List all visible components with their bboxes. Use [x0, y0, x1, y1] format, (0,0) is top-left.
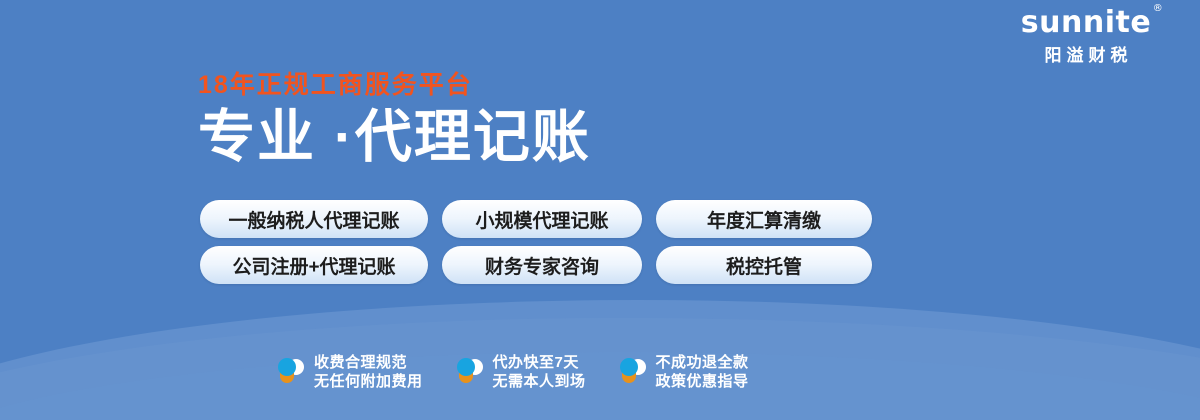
feature-line-1: 不成功退全款	[656, 353, 749, 372]
registered-trademark-icon: ®	[1153, 4, 1164, 14]
brand-logo[interactable]: sunnite® 阳溢财税	[996, 8, 1176, 64]
logo-chinese-name: 阳溢财税	[996, 47, 1176, 64]
promo-banner: sunnite® 阳溢财税 18年正规工商服务平台 专业 ·代理记账 一般纳税人…	[0, 0, 1200, 420]
feature-line-1: 收费合理规范	[314, 353, 423, 372]
service-pill-group: 一般纳税人代理记账 小规模代理记账 年度汇算清缴 公司注册+代理记账 财务专家咨…	[200, 200, 872, 292]
feature-line-2: 政策优惠指导	[656, 372, 749, 391]
headline-title: 专业 ·代理记账	[198, 108, 591, 168]
logo-wordmark: sunnite®	[1021, 8, 1151, 38]
service-pill-company-registration[interactable]: 公司注册+代理记账	[200, 246, 428, 284]
feature-item: 不成功退全款 政策优惠指导	[618, 353, 749, 391]
feature-line-2: 无任何附加费用	[314, 372, 423, 391]
service-pill-general-taxpayer[interactable]: 一般纳税人代理记账	[200, 200, 428, 238]
service-pill-annual-settlement[interactable]: 年度汇算清缴	[656, 200, 872, 238]
service-pill-row-2: 公司注册+代理记账 财务专家咨询 税控托管	[200, 246, 872, 284]
feature-text: 收费合理规范 无任何附加费用	[314, 353, 423, 391]
feature-item: 代办快至7天 无需本人到场	[455, 353, 586, 391]
circle-badge-icon	[276, 356, 306, 388]
feature-list: 收费合理规范 无任何附加费用 代办快至7天 无需本人到场 不成功退全款	[276, 353, 749, 391]
headline-kicker: 18年正规工商服务平台	[198, 72, 591, 100]
service-pill-small-scale[interactable]: 小规模代理记账	[442, 200, 642, 238]
service-pill-expert-consulting[interactable]: 财务专家咨询	[442, 246, 642, 284]
circle-badge-icon	[618, 356, 648, 388]
service-pill-tax-control-hosting[interactable]: 税控托管	[656, 246, 872, 284]
headline-block: 18年正规工商服务平台 专业 ·代理记账	[198, 72, 591, 167]
circle-badge-cyan-part	[457, 358, 475, 376]
feature-text: 不成功退全款 政策优惠指导	[656, 353, 749, 391]
circle-badge-icon	[455, 356, 485, 388]
feature-text: 代办快至7天 无需本人到场	[493, 353, 586, 391]
feature-item: 收费合理规范 无任何附加费用	[276, 353, 423, 391]
logo-wordmark-text: sunnite	[1021, 5, 1151, 40]
circle-badge-cyan-part	[620, 358, 638, 376]
feature-line-1: 代办快至7天	[493, 353, 586, 372]
feature-line-2: 无需本人到场	[493, 372, 586, 391]
service-pill-row-1: 一般纳税人代理记账 小规模代理记账 年度汇算清缴	[200, 200, 872, 238]
